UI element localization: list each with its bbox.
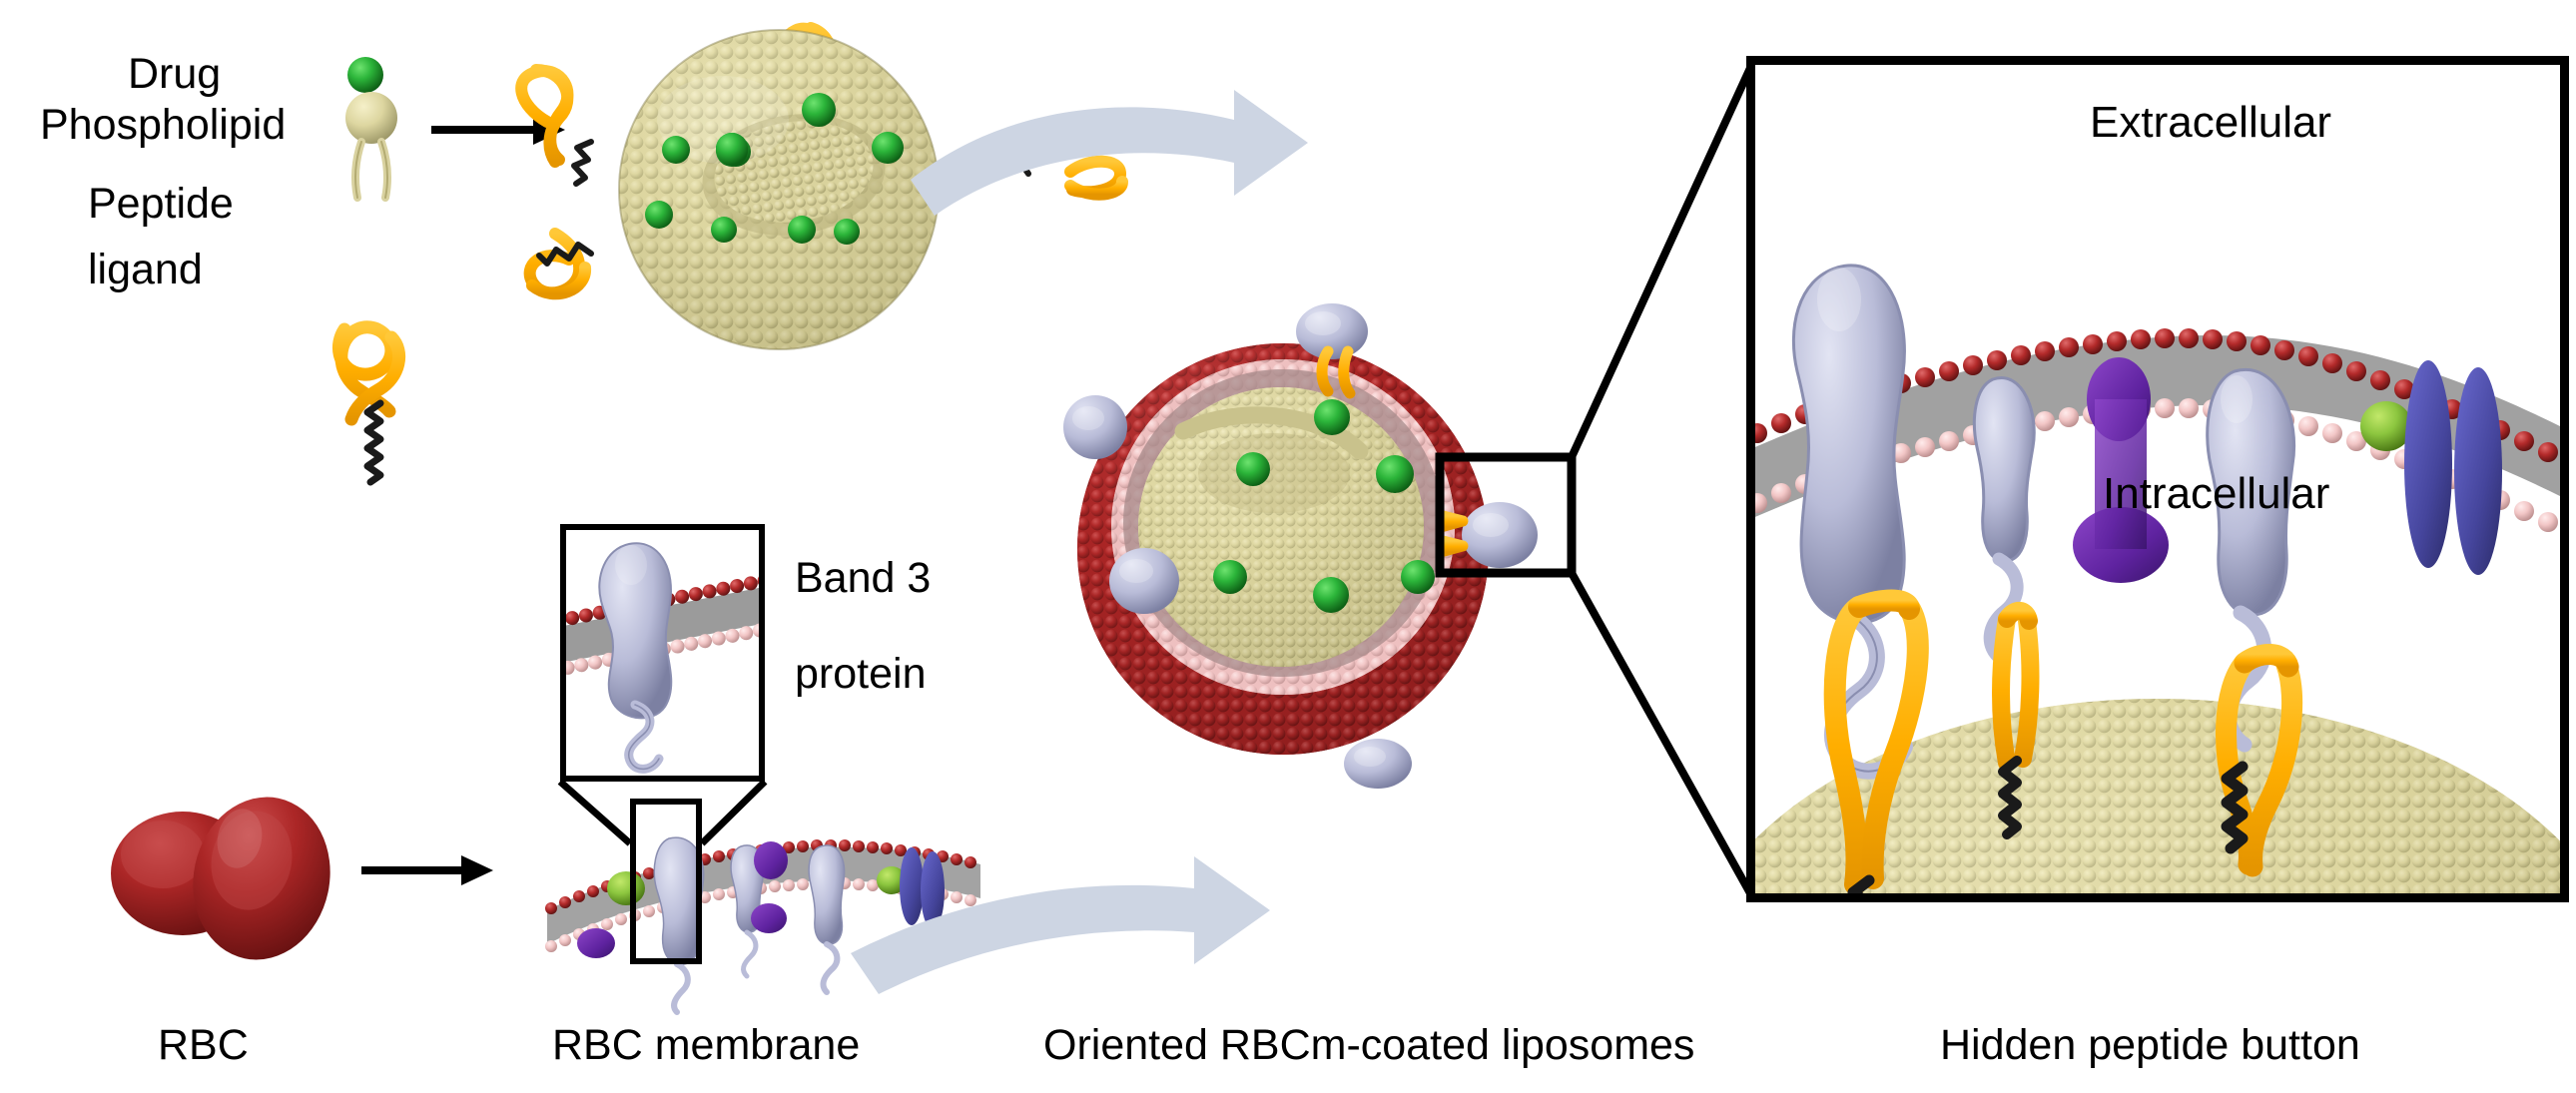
- gray-curved-arrow-top: [911, 90, 1308, 216]
- legend-label-phospholipid: Phospholipid: [40, 103, 286, 148]
- rbcm-coated-liposome: [1063, 303, 1538, 789]
- legend-peptide-ligand-icon: [338, 327, 398, 482]
- caption-hidden-peptide-button: Hidden peptide button: [1940, 1023, 2360, 1068]
- band3-label-line2: protein: [795, 652, 926, 697]
- legend-label-ligand: ligand: [88, 248, 203, 292]
- rbcm-liposome-drug-spheres: [1213, 399, 1435, 613]
- arrow-rbc-to-membrane: [361, 855, 493, 885]
- arrow-legend-to-liposome: [431, 115, 565, 145]
- rbcm-liposome-band3-proteins: [1063, 303, 1538, 789]
- drug-loaded-liposome: [521, 28, 1122, 349]
- rbc-membrane-callout-frame: [630, 799, 702, 964]
- drug-spheres-in-liposome: [717, 136, 747, 164]
- extracellular-label: Extracellular: [2090, 100, 2331, 146]
- band3-label-line1: Band 3: [795, 556, 931, 601]
- intracellular-label: Intracellular: [2103, 471, 2329, 517]
- legend-label-peptide: Peptide: [88, 182, 234, 227]
- band3-inset-frame: [560, 524, 765, 782]
- peptide-ribbons-on-liposome: [521, 28, 1122, 339]
- liposome-callout-box: [1440, 457, 1572, 573]
- callout-connector-lines: [1572, 68, 1750, 893]
- rbc-membrane-sheet: [545, 837, 980, 1012]
- gray-curved-arrow-bottom: [851, 856, 1270, 994]
- figure-canvas: Drug Phospholipid Peptide ligand Band 3 …: [0, 0, 2576, 1093]
- caption-rbc-membrane: RBC membrane: [552, 1023, 860, 1068]
- legend-drug-icon: [347, 57, 383, 93]
- caption-rbc: RBC: [158, 1023, 249, 1068]
- legend-label-drug: Drug: [128, 52, 221, 97]
- caption-oriented-liposomes: Oriented RBCm-coated liposomes: [1043, 1023, 1694, 1068]
- rbc-cells: [111, 785, 345, 973]
- legend-phospholipid-icon: [345, 92, 397, 198]
- rbcm-liposome-peptide-stubs: [1322, 351, 1463, 552]
